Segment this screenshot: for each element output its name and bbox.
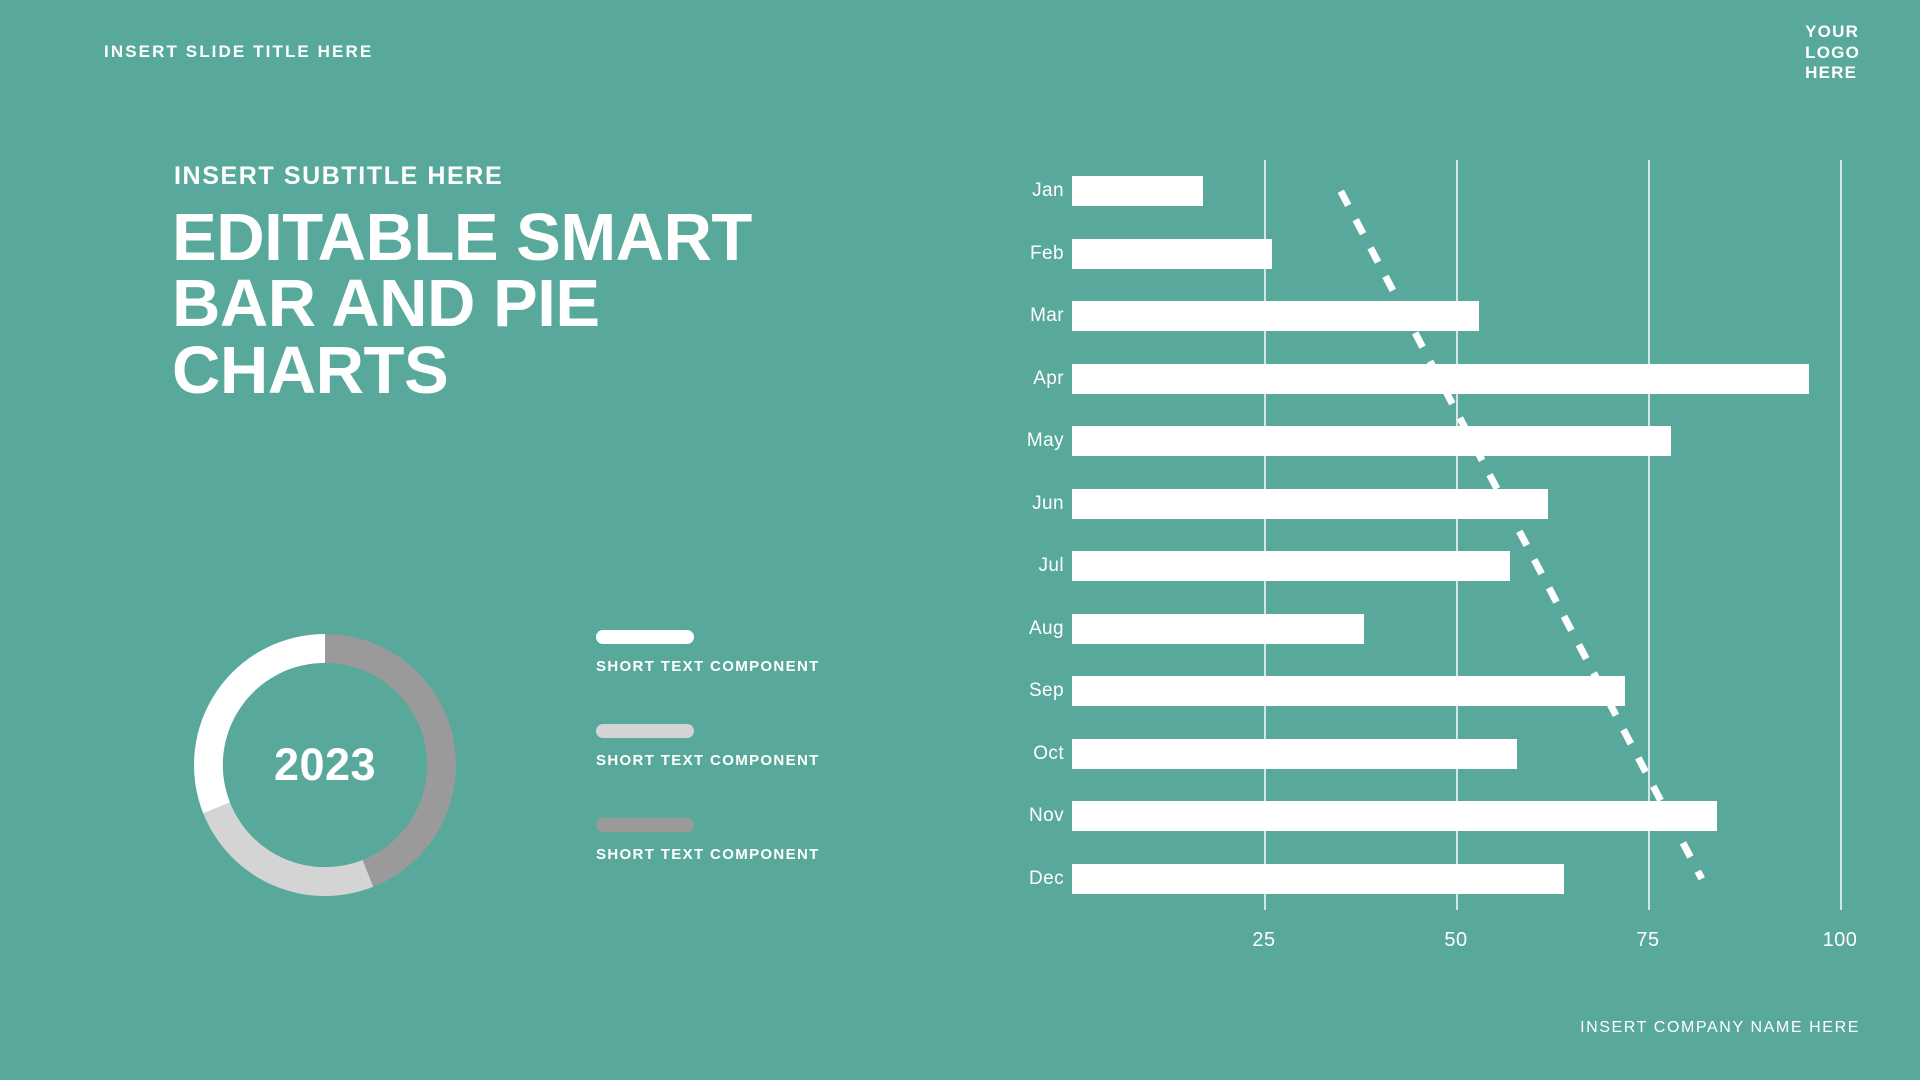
bar-category-label: Sep (1000, 680, 1064, 702)
bar[interactable] (1072, 426, 1671, 456)
gridline (1456, 160, 1458, 910)
bar-row (1072, 614, 1364, 644)
legend-item-label: SHORT TEXT COMPONENT (596, 846, 896, 863)
bar-row (1072, 801, 1717, 831)
bar-category-label: Jul (1000, 555, 1064, 577)
legend-swatch-icon (596, 630, 694, 644)
bar-category-label: May (1000, 430, 1064, 452)
bar-row (1072, 739, 1517, 769)
bar-row (1072, 364, 1809, 394)
legend-item[interactable]: SHORT TEXT COMPONENT (596, 818, 896, 863)
donut-center-label: 2023 (180, 620, 470, 910)
bar-row (1072, 176, 1203, 206)
gridline (1264, 160, 1266, 910)
donut-chart: 2023 (180, 620, 470, 910)
x-tick-label: 75 (1636, 929, 1659, 952)
bar-chart-plot-area (1072, 160, 1840, 910)
bar[interactable] (1072, 801, 1717, 831)
bar[interactable] (1072, 364, 1809, 394)
gridline (1648, 160, 1650, 910)
bar[interactable] (1072, 489, 1548, 519)
legend-swatch-icon (596, 818, 694, 832)
bar-category-label: Jan (1000, 180, 1064, 202)
logo-line-3: HERE (1805, 63, 1860, 84)
bar-category-label: Nov (1000, 805, 1064, 827)
legend-item[interactable]: SHORT TEXT COMPONENT (596, 630, 896, 675)
legend-item-label: SHORT TEXT COMPONENT (596, 658, 896, 675)
bar-category-label: Aug (1000, 618, 1064, 640)
bar[interactable] (1072, 176, 1203, 206)
logo-placeholder: YOUR LOGO HERE (1805, 22, 1860, 84)
bar-category-label: Dec (1000, 868, 1064, 890)
bar-row (1072, 551, 1510, 581)
bar-category-label: Jun (1000, 493, 1064, 515)
gridline (1840, 160, 1842, 910)
legend-swatch-icon (596, 724, 694, 738)
bar-category-label: Mar (1000, 305, 1064, 327)
bar-row (1072, 864, 1564, 894)
bar-row (1072, 426, 1671, 456)
bar[interactable] (1072, 676, 1625, 706)
logo-line-2: LOGO (1805, 43, 1860, 64)
section-headline: EDITABLE SMART BAR AND PIE CHARTS (172, 205, 872, 404)
legend-item[interactable]: SHORT TEXT COMPONENT (596, 724, 896, 769)
bar[interactable] (1072, 551, 1510, 581)
x-tick-label: 100 (1823, 929, 1858, 952)
legend-item-label: SHORT TEXT COMPONENT (596, 752, 896, 769)
bar[interactable] (1072, 614, 1364, 644)
slide-title: INSERT SLIDE TITLE HERE (104, 42, 373, 62)
bar-row (1072, 239, 1272, 269)
bar-category-label: Apr (1000, 368, 1064, 390)
bar-category-label: Feb (1000, 243, 1064, 265)
footer-company-name: INSERT COMPANY NAME HERE (1580, 1019, 1860, 1037)
bar-row (1072, 301, 1479, 331)
bar[interactable] (1072, 301, 1479, 331)
bar[interactable] (1072, 739, 1517, 769)
logo-line-1: YOUR (1805, 22, 1860, 43)
bar[interactable] (1072, 864, 1564, 894)
bar-row (1072, 676, 1625, 706)
section-subtitle: INSERT SUBTITLE HERE (174, 162, 503, 191)
bar-row (1072, 489, 1548, 519)
chart-legend: SHORT TEXT COMPONENT SHORT TEXT COMPONEN… (596, 630, 896, 912)
slide-canvas: INSERT SLIDE TITLE HERE YOUR LOGO HERE I… (0, 0, 1920, 1080)
bar[interactable] (1072, 239, 1272, 269)
bar-category-label: Oct (1000, 743, 1064, 765)
bar-chart: JanFebMarAprMayJunJulAugSepOctNovDec 255… (1000, 150, 1840, 970)
x-tick-label: 50 (1444, 929, 1467, 952)
x-tick-label: 25 (1252, 929, 1275, 952)
